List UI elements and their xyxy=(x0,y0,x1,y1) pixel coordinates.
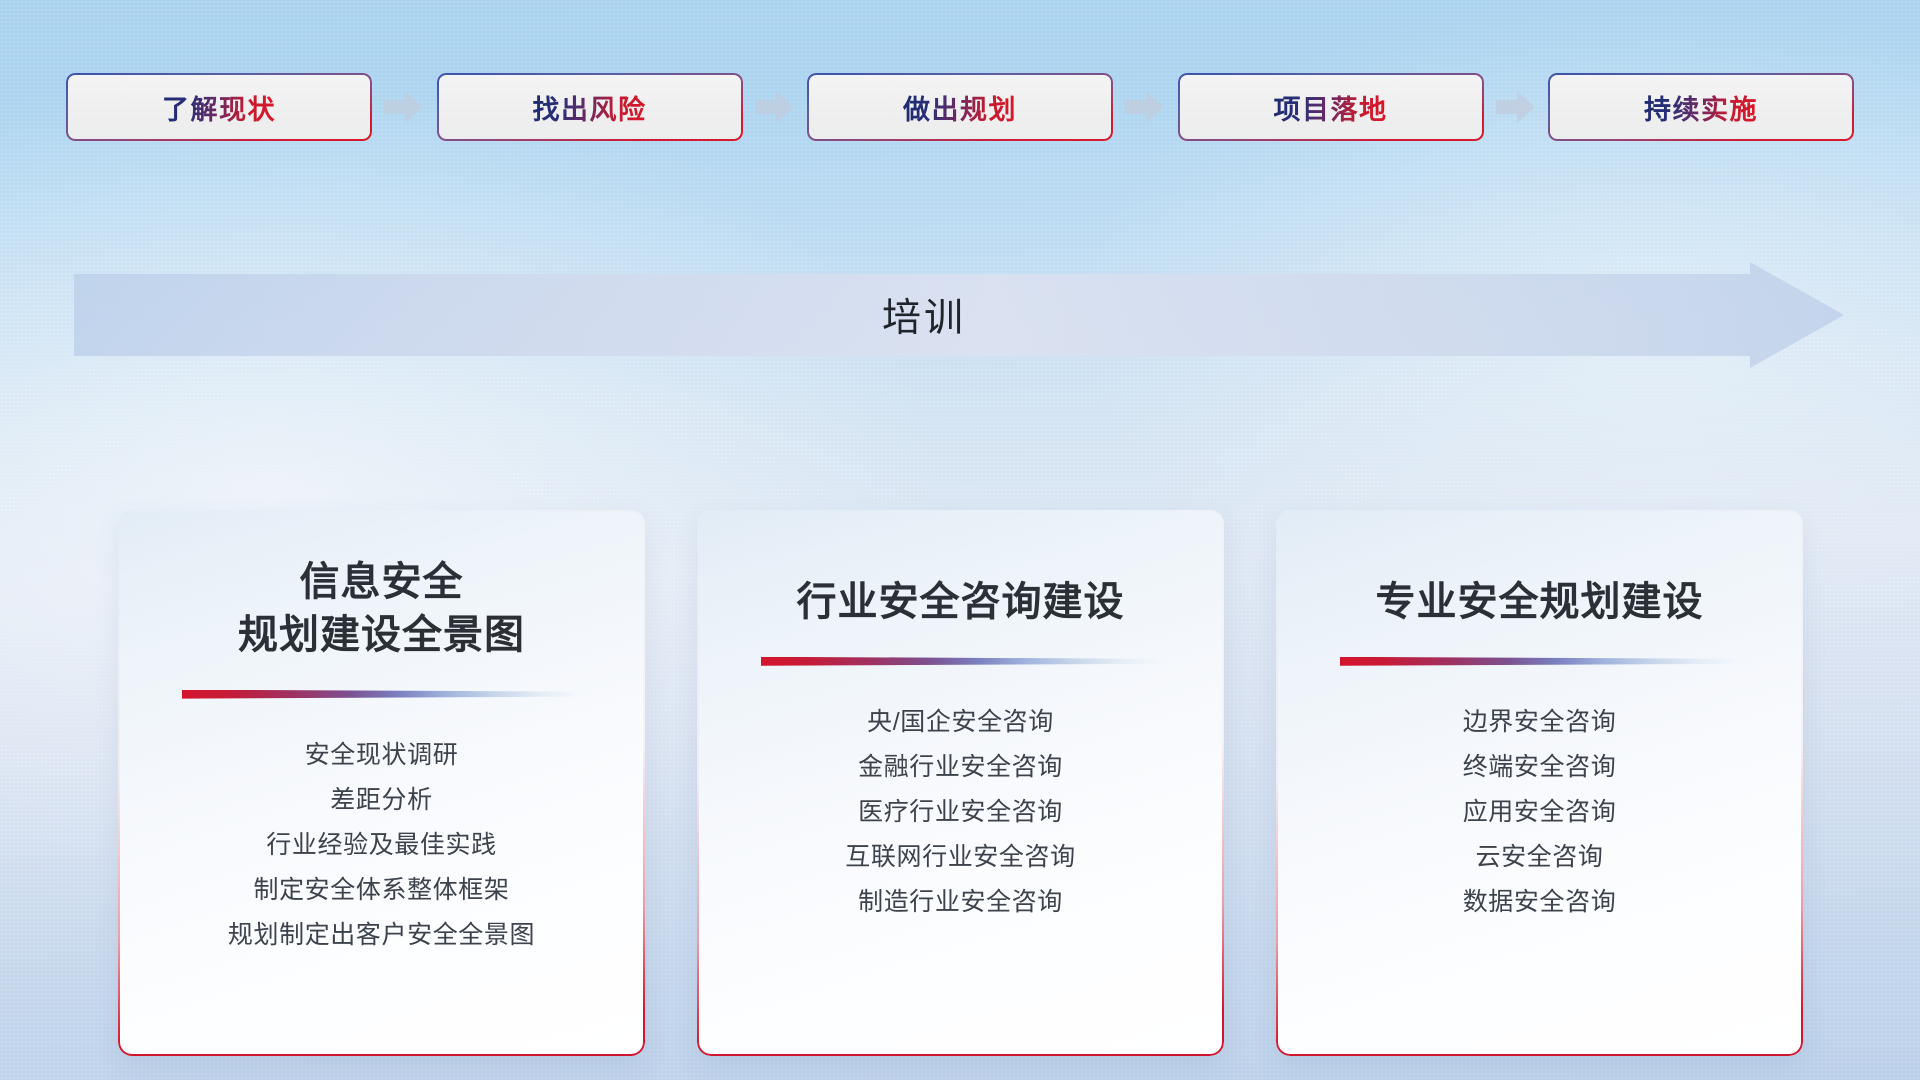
card-information-security-panorama[interactable]: 信息安全 规划建设全景图 安全现状调研 差距分析 行业经验及最佳实践 制定安全体… xyxy=(118,510,645,1056)
step-box-1[interactable]: 了解现状 xyxy=(66,73,372,141)
list-item: 规划制定出客户安全全景图 xyxy=(144,913,619,958)
step-box-5[interactable]: 持续实施 xyxy=(1548,73,1854,141)
list-item: 差距分析 xyxy=(144,778,619,823)
step-label-3: 做出规划 xyxy=(903,88,1017,127)
step-box-4[interactable]: 项目落地 xyxy=(1178,73,1484,141)
card-divider xyxy=(761,657,1161,666)
banner-label: 培训 xyxy=(74,262,1774,368)
card-item-list: 央/国企安全咨询 金融行业安全咨询 医疗行业安全咨询 互联网行业安全咨询 制造行… xyxy=(723,700,1198,925)
list-item: 制定安全体系整体框架 xyxy=(144,868,619,913)
list-item: 边界安全咨询 xyxy=(1302,700,1777,745)
step-box-2[interactable]: 找出风险 xyxy=(437,73,743,141)
step-label-5: 持续实施 xyxy=(1644,88,1758,127)
card-title: 行业安全咨询建设 xyxy=(797,576,1125,629)
card-professional-security-planning[interactable]: 专业安全规划建设 边界安全咨询 终端安全咨询 应用安全咨询 云安全咨询 数据安全… xyxy=(1276,510,1803,1056)
step-label-2: 找出风险 xyxy=(533,88,647,127)
list-item: 行业经验及最佳实践 xyxy=(144,823,619,868)
card-item-list: 安全现状调研 差距分析 行业经验及最佳实践 制定安全体系整体框架 规划制定出客户… xyxy=(144,733,619,958)
list-item: 应用安全咨询 xyxy=(1302,790,1777,835)
card-divider xyxy=(1340,657,1740,666)
step-label-4: 项目落地 xyxy=(1274,88,1388,127)
list-item: 医疗行业安全咨询 xyxy=(723,790,1198,835)
arrow-right-icon xyxy=(755,90,795,124)
training-banner: 培训 xyxy=(74,262,1844,368)
card-industry-security-consulting[interactable]: 行业安全咨询建设 央/国企安全咨询 金融行业安全咨询 医疗行业安全咨询 互联网行… xyxy=(697,510,1224,1056)
list-item: 云安全咨询 xyxy=(1302,835,1777,880)
card-title: 专业安全规划建设 xyxy=(1376,576,1704,629)
card-item-list: 边界安全咨询 终端安全咨询 应用安全咨询 云安全咨询 数据安全咨询 xyxy=(1302,700,1777,925)
card-group: 信息安全 规划建设全景图 安全现状调研 差距分析 行业经验及最佳实践 制定安全体… xyxy=(0,510,1920,1070)
list-item: 金融行业安全咨询 xyxy=(723,745,1198,790)
step-label-1: 了解现状 xyxy=(162,88,276,127)
list-item: 央/国企安全咨询 xyxy=(723,700,1198,745)
list-item: 数据安全咨询 xyxy=(1302,880,1777,925)
arrow-right-icon xyxy=(1125,90,1165,124)
card-divider xyxy=(182,690,582,699)
card-title: 信息安全 规划建设全景图 xyxy=(238,556,525,662)
list-item: 制造行业安全咨询 xyxy=(723,880,1198,925)
arrow-right-icon xyxy=(384,90,424,124)
step-box-3[interactable]: 做出规划 xyxy=(807,73,1113,141)
list-item: 互联网行业安全咨询 xyxy=(723,835,1198,880)
list-item: 安全现状调研 xyxy=(144,733,619,778)
process-step-row: 了解现状 找出风险 做出规划 项目落地 xyxy=(66,72,1854,142)
slide-canvas: 了解现状 找出风险 做出规划 项目落地 xyxy=(0,0,1920,1080)
arrow-right-icon xyxy=(1496,90,1536,124)
list-item: 终端安全咨询 xyxy=(1302,745,1777,790)
